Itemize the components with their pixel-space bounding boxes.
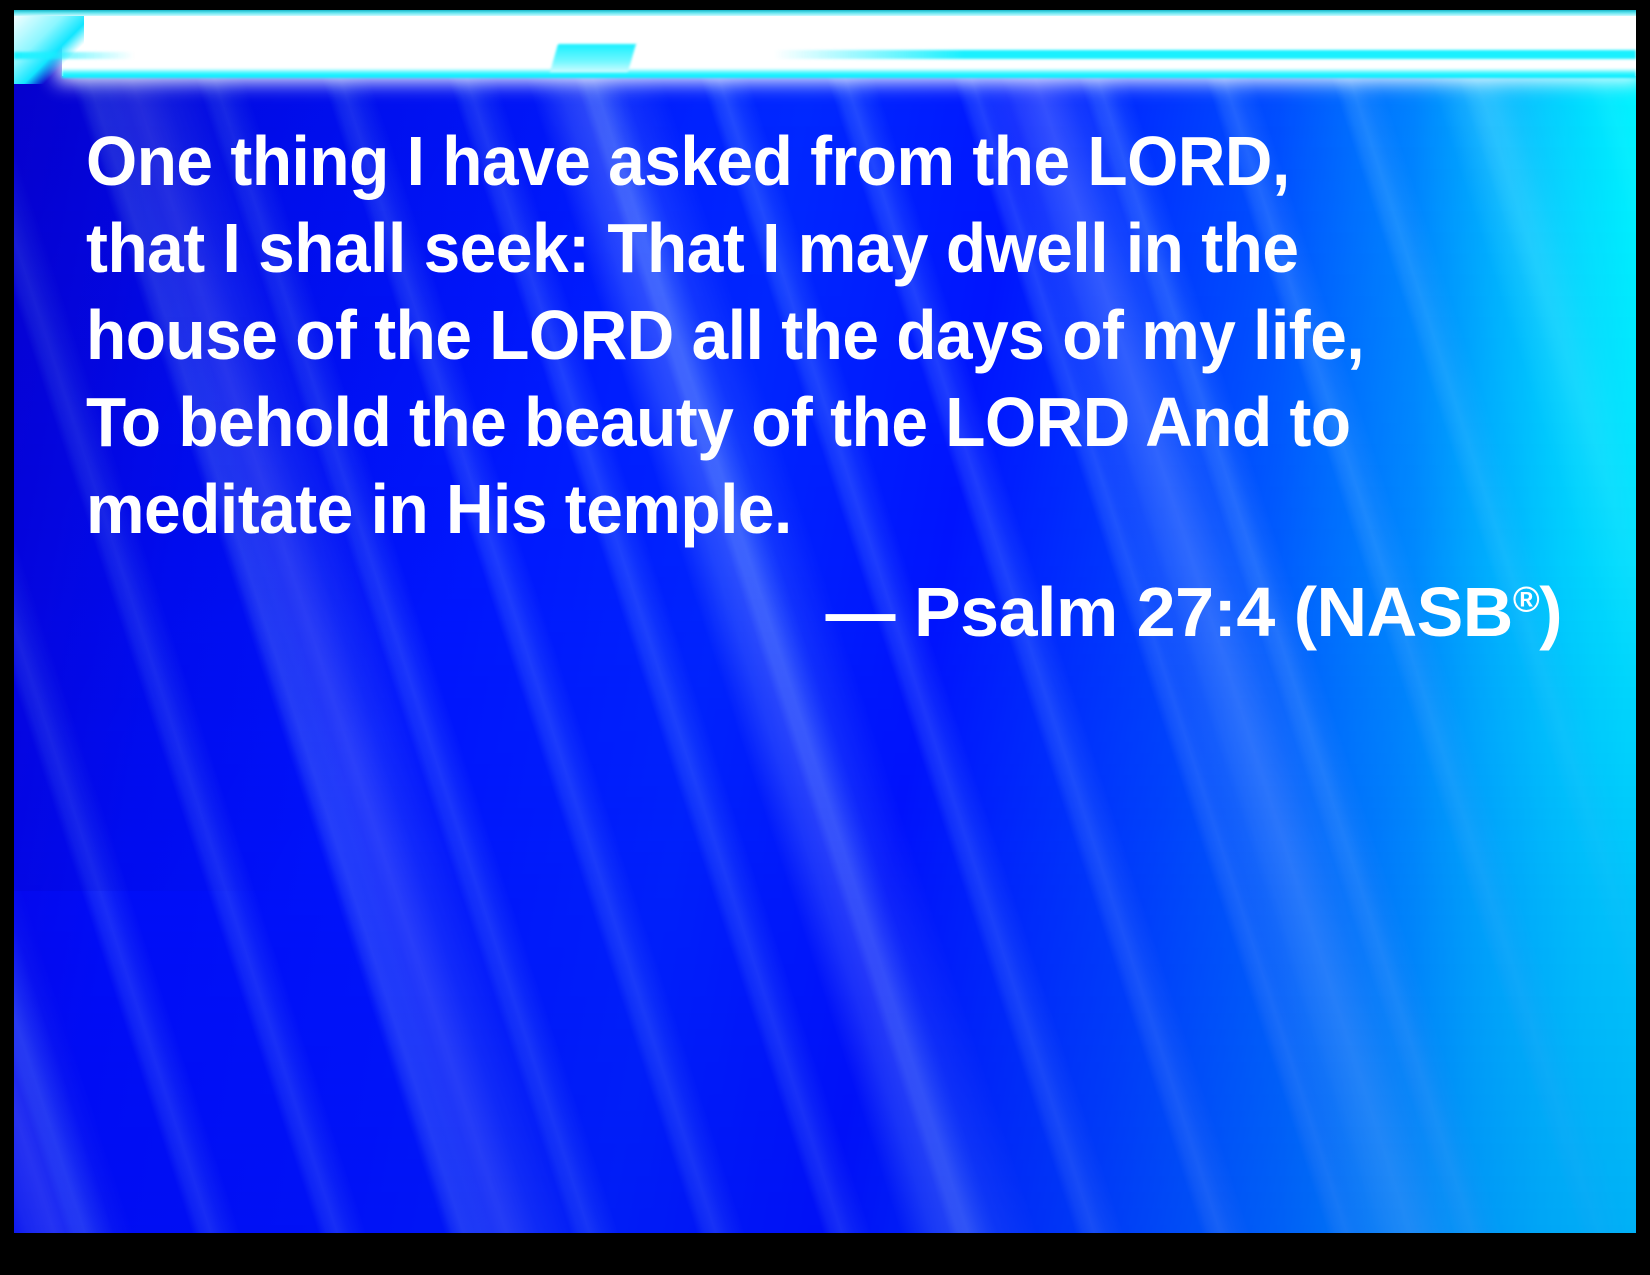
verse-slide: One thing I have asked from the LORD, th… xyxy=(0,0,1650,1275)
slide-canvas: One thing I have asked from the LORD, th… xyxy=(14,10,1636,1233)
registered-trademark-icon: ® xyxy=(1513,579,1539,620)
verse-line-5: meditate in His temple. xyxy=(86,466,1473,553)
verse-line-4: To behold the beauty of the LORD And to xyxy=(86,379,1473,466)
attribution-reference: Psalm 27:4 xyxy=(914,573,1275,651)
verse-line-2: that I shall seek: That I may dwell in t… xyxy=(86,205,1473,292)
attribution-dash: — xyxy=(826,573,896,651)
verse-line-1: One thing I have asked from the LORD, xyxy=(86,118,1473,205)
verse-attribution: — Psalm 27:4 (NASB®) xyxy=(86,569,1562,656)
verse-line-3: house of the LORD all the days of my lif… xyxy=(86,292,1473,379)
attribution-paren-close: ) xyxy=(1539,573,1562,651)
attribution-translation: (NASB xyxy=(1294,573,1513,651)
verse-text-block: One thing I have asked from the LORD, th… xyxy=(86,118,1562,656)
